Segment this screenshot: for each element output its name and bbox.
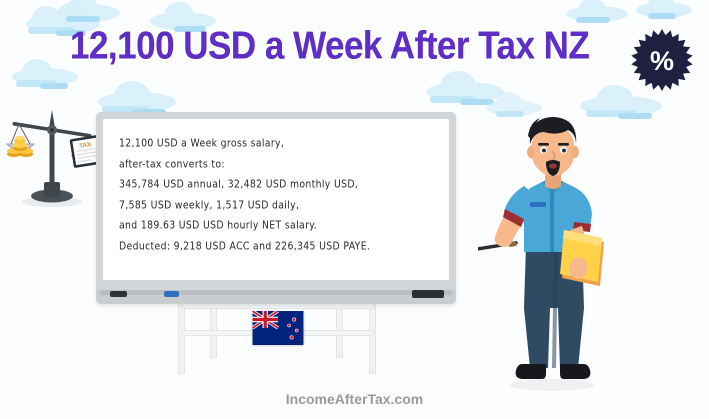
stand-leg-left: [178, 300, 185, 374]
stand-leg-right: [369, 300, 376, 374]
cloud-icon: [566, 6, 628, 22]
cloud-icon: [12, 68, 78, 86]
balance-scale-illustration: TAX: [2, 104, 108, 208]
whiteboard-marker-tray: [96, 290, 456, 304]
site-footer: IncomeAfterTax.com: [0, 391, 709, 407]
whiteboard-text: 12,100 USD a Week gross salary, after-ta…: [119, 134, 437, 257]
black-marker: [110, 291, 127, 297]
cloud-icon: [58, 4, 120, 22]
eraser: [412, 290, 444, 298]
board-line-6: Deducted: 9,218 USD ACC and 226,345 USD …: [119, 235, 437, 259]
cloud-icon: [636, 2, 692, 18]
cloud-icon: [98, 92, 176, 112]
percent-badge-icon: %: [631, 29, 693, 91]
whiteboard: 12,100 USD a Week gross salary, after-ta…: [96, 112, 456, 304]
page-title: 12,100 USD a Week After Tax NZ: [70, 24, 630, 69]
infographic-canvas: 12,100 USD a Week After Tax NZ %: [0, 0, 709, 419]
teacher-character: [478, 96, 618, 396]
blue-marker: [164, 291, 179, 297]
whiteboard-surface: 12,100 USD a Week gross salary, after-ta…: [103, 119, 449, 280]
svg-text:%: %: [650, 46, 674, 76]
new-zealand-flag: [252, 311, 304, 345]
